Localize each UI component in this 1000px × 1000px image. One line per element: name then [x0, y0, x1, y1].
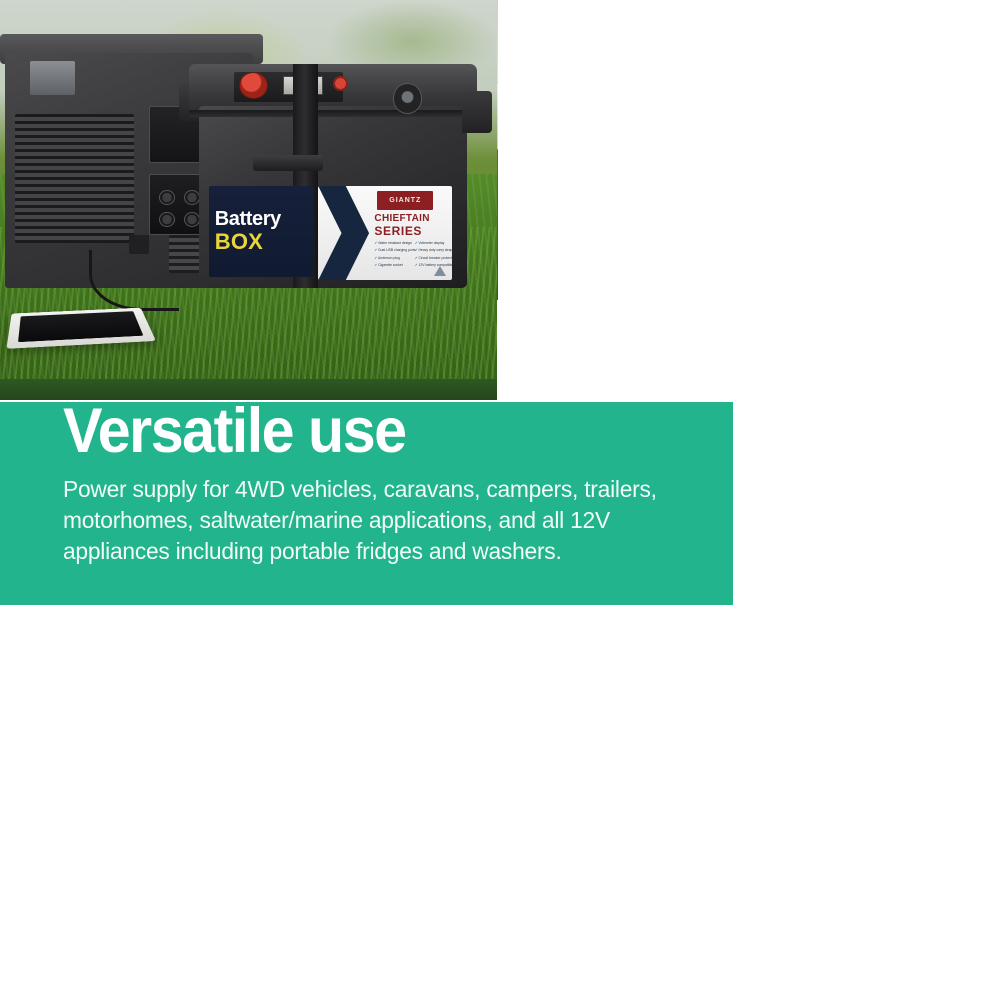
description-line-3: appliances including portable fridges an… — [63, 536, 703, 567]
check-icon: ✓ — [374, 241, 377, 245]
fridge-latch — [30, 61, 75, 95]
feature-item: ✓ Water resistant design — [374, 241, 411, 245]
battery-box-series-label: GIANTZ CHIEFTAIN SERIES ✓ Water resistan… — [318, 186, 452, 281]
series-name-line2: SERIES — [374, 225, 449, 238]
cigarette-socket[interactable] — [393, 83, 423, 113]
fridge-vent-grille — [15, 114, 134, 243]
feature-item: ✓ Circuit breaker protected — [415, 256, 453, 260]
photo-fridge-battery: Battery BOX GIANTZ CHIEFTAIN SERIES ✓ Wa… — [0, 0, 497, 379]
check-icon: ✓ — [374, 248, 377, 252]
giantz-brand-badge: GIANTZ — [377, 191, 433, 210]
fridge-button[interactable] — [184, 190, 200, 205]
feature-item: ✓ Anderson plug — [374, 256, 399, 260]
compliance-mark-icon — [434, 266, 446, 276]
feature-description: Power supply for 4WD vehicles, caravans,… — [63, 474, 703, 567]
fridge-button[interactable] — [159, 190, 175, 205]
check-icon: ✓ — [374, 256, 377, 260]
feature-item: ✓ Cigarette socket — [374, 263, 402, 267]
description-line-2: motorhomes, saltwater/marine application… — [63, 505, 703, 536]
label-box-text: BOX — [215, 230, 263, 253]
feature-item: ✓ Dual USB charging ports — [374, 248, 415, 252]
chevron-graphic — [318, 186, 369, 281]
label-battery-text: Battery — [215, 209, 281, 229]
feature-item: ✓ Heavy duty carry strap — [415, 248, 453, 252]
battery-box-grip — [253, 155, 323, 170]
battery-power-button[interactable] — [333, 76, 348, 91]
page-title: Versatile use — [63, 400, 406, 463]
series-name-line1: CHIEFTAIN — [374, 213, 449, 224]
check-icon: ✓ — [374, 263, 377, 267]
battery-box-carry-handle — [462, 91, 492, 133]
feature-item: ✓ Voltmeter display — [415, 241, 445, 245]
product-feature-banner: Battery BOX GIANTZ CHIEFTAIN SERIES ✓ Wa… — [0, 0, 1000, 1000]
battery-box-brand-label: Battery BOX — [209, 186, 313, 277]
feature-text-panel: Versatile use Power supply for 4WD vehic… — [0, 402, 733, 605]
battery-terminal-knob[interactable] — [239, 72, 269, 99]
description-line-1: Power supply for 4WD vehicles, caravans,… — [63, 474, 703, 505]
battery-box-lid-seam — [189, 110, 477, 118]
